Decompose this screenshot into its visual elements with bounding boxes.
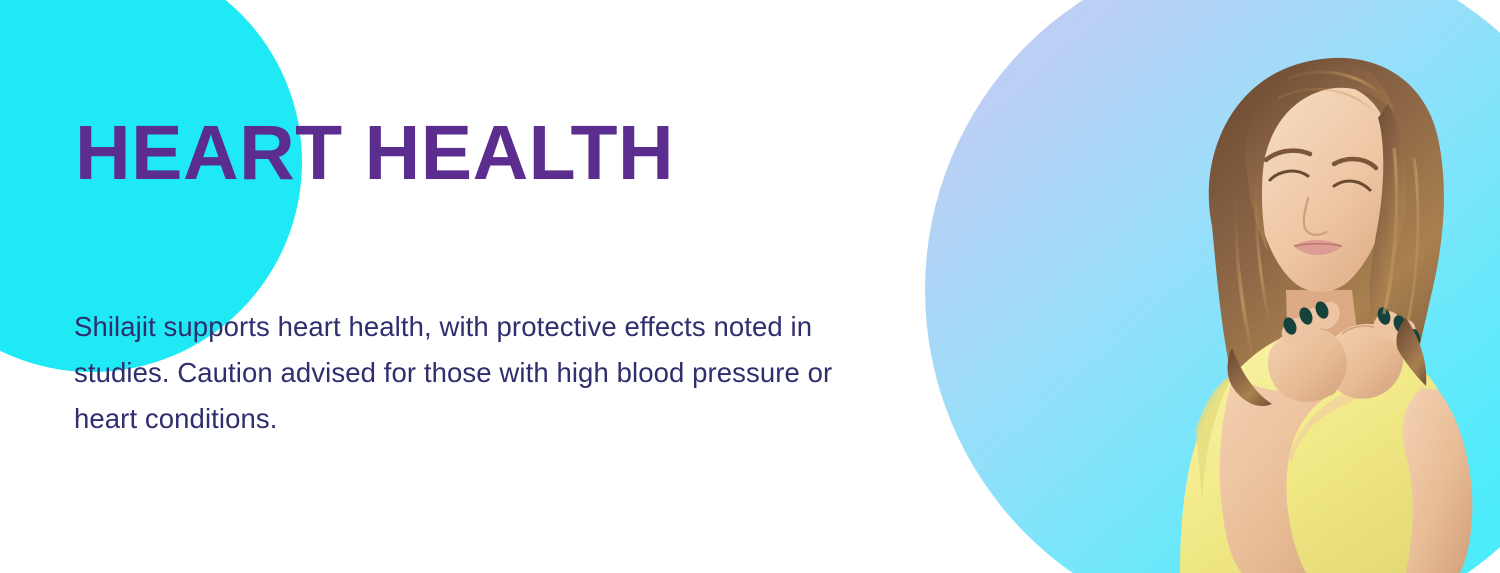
page-title: HEART HEALTH — [75, 112, 674, 194]
neck — [1286, 290, 1360, 371]
hair-back — [1209, 58, 1444, 418]
nail-polish — [1281, 315, 1299, 336]
text-content-column: HEART HEALTH Shilajit supports heart hea… — [74, 0, 894, 573]
hand-right-crease — [1342, 326, 1376, 334]
nose — [1304, 198, 1326, 235]
shirt-collar — [1292, 334, 1366, 354]
face — [1252, 82, 1392, 292]
hand-right — [1326, 324, 1403, 399]
hair-front-right — [1370, 104, 1406, 324]
lip-line — [1294, 244, 1342, 246]
hair-front-left — [1246, 61, 1394, 252]
necklace-chain — [1298, 338, 1354, 363]
heart-health-banner: HEART HEALTH Shilajit supports heart hea… — [0, 0, 1500, 573]
photo-illustration — [1138, 38, 1500, 573]
body-description: Shilajit supports heart health, with pro… — [74, 304, 884, 442]
arm-right — [1403, 388, 1473, 573]
hand-left — [1268, 328, 1347, 402]
nail-polish — [1297, 305, 1315, 326]
lips — [1294, 240, 1342, 255]
necklace-chain-lower — [1294, 340, 1362, 375]
forearm-highlight — [1288, 360, 1398, 462]
hair-shoulder-left — [1228, 348, 1273, 406]
woman-hands-on-chest-photo — [1138, 38, 1500, 573]
eyebrow-left — [1266, 151, 1310, 160]
eye-left-closed — [1270, 171, 1308, 180]
necklace-pendant — [1319, 377, 1337, 395]
eyebrow-right — [1334, 159, 1376, 168]
tshirt — [1180, 334, 1460, 573]
nail-polish — [1407, 328, 1421, 347]
nail-polish — [1376, 306, 1393, 327]
nail-polish — [1313, 299, 1331, 320]
gradient-circle-blob-decoration — [925, 0, 1500, 573]
fingers-right — [1374, 306, 1421, 348]
hair-shoulder-right — [1396, 318, 1426, 386]
arm-left — [1220, 356, 1390, 573]
hair-highlights — [1236, 72, 1418, 360]
eye-right-closed — [1334, 181, 1370, 190]
nail-polish — [1392, 314, 1409, 335]
fingers-left — [1281, 299, 1340, 345]
sleeve-shadow-left — [1196, 374, 1234, 500]
